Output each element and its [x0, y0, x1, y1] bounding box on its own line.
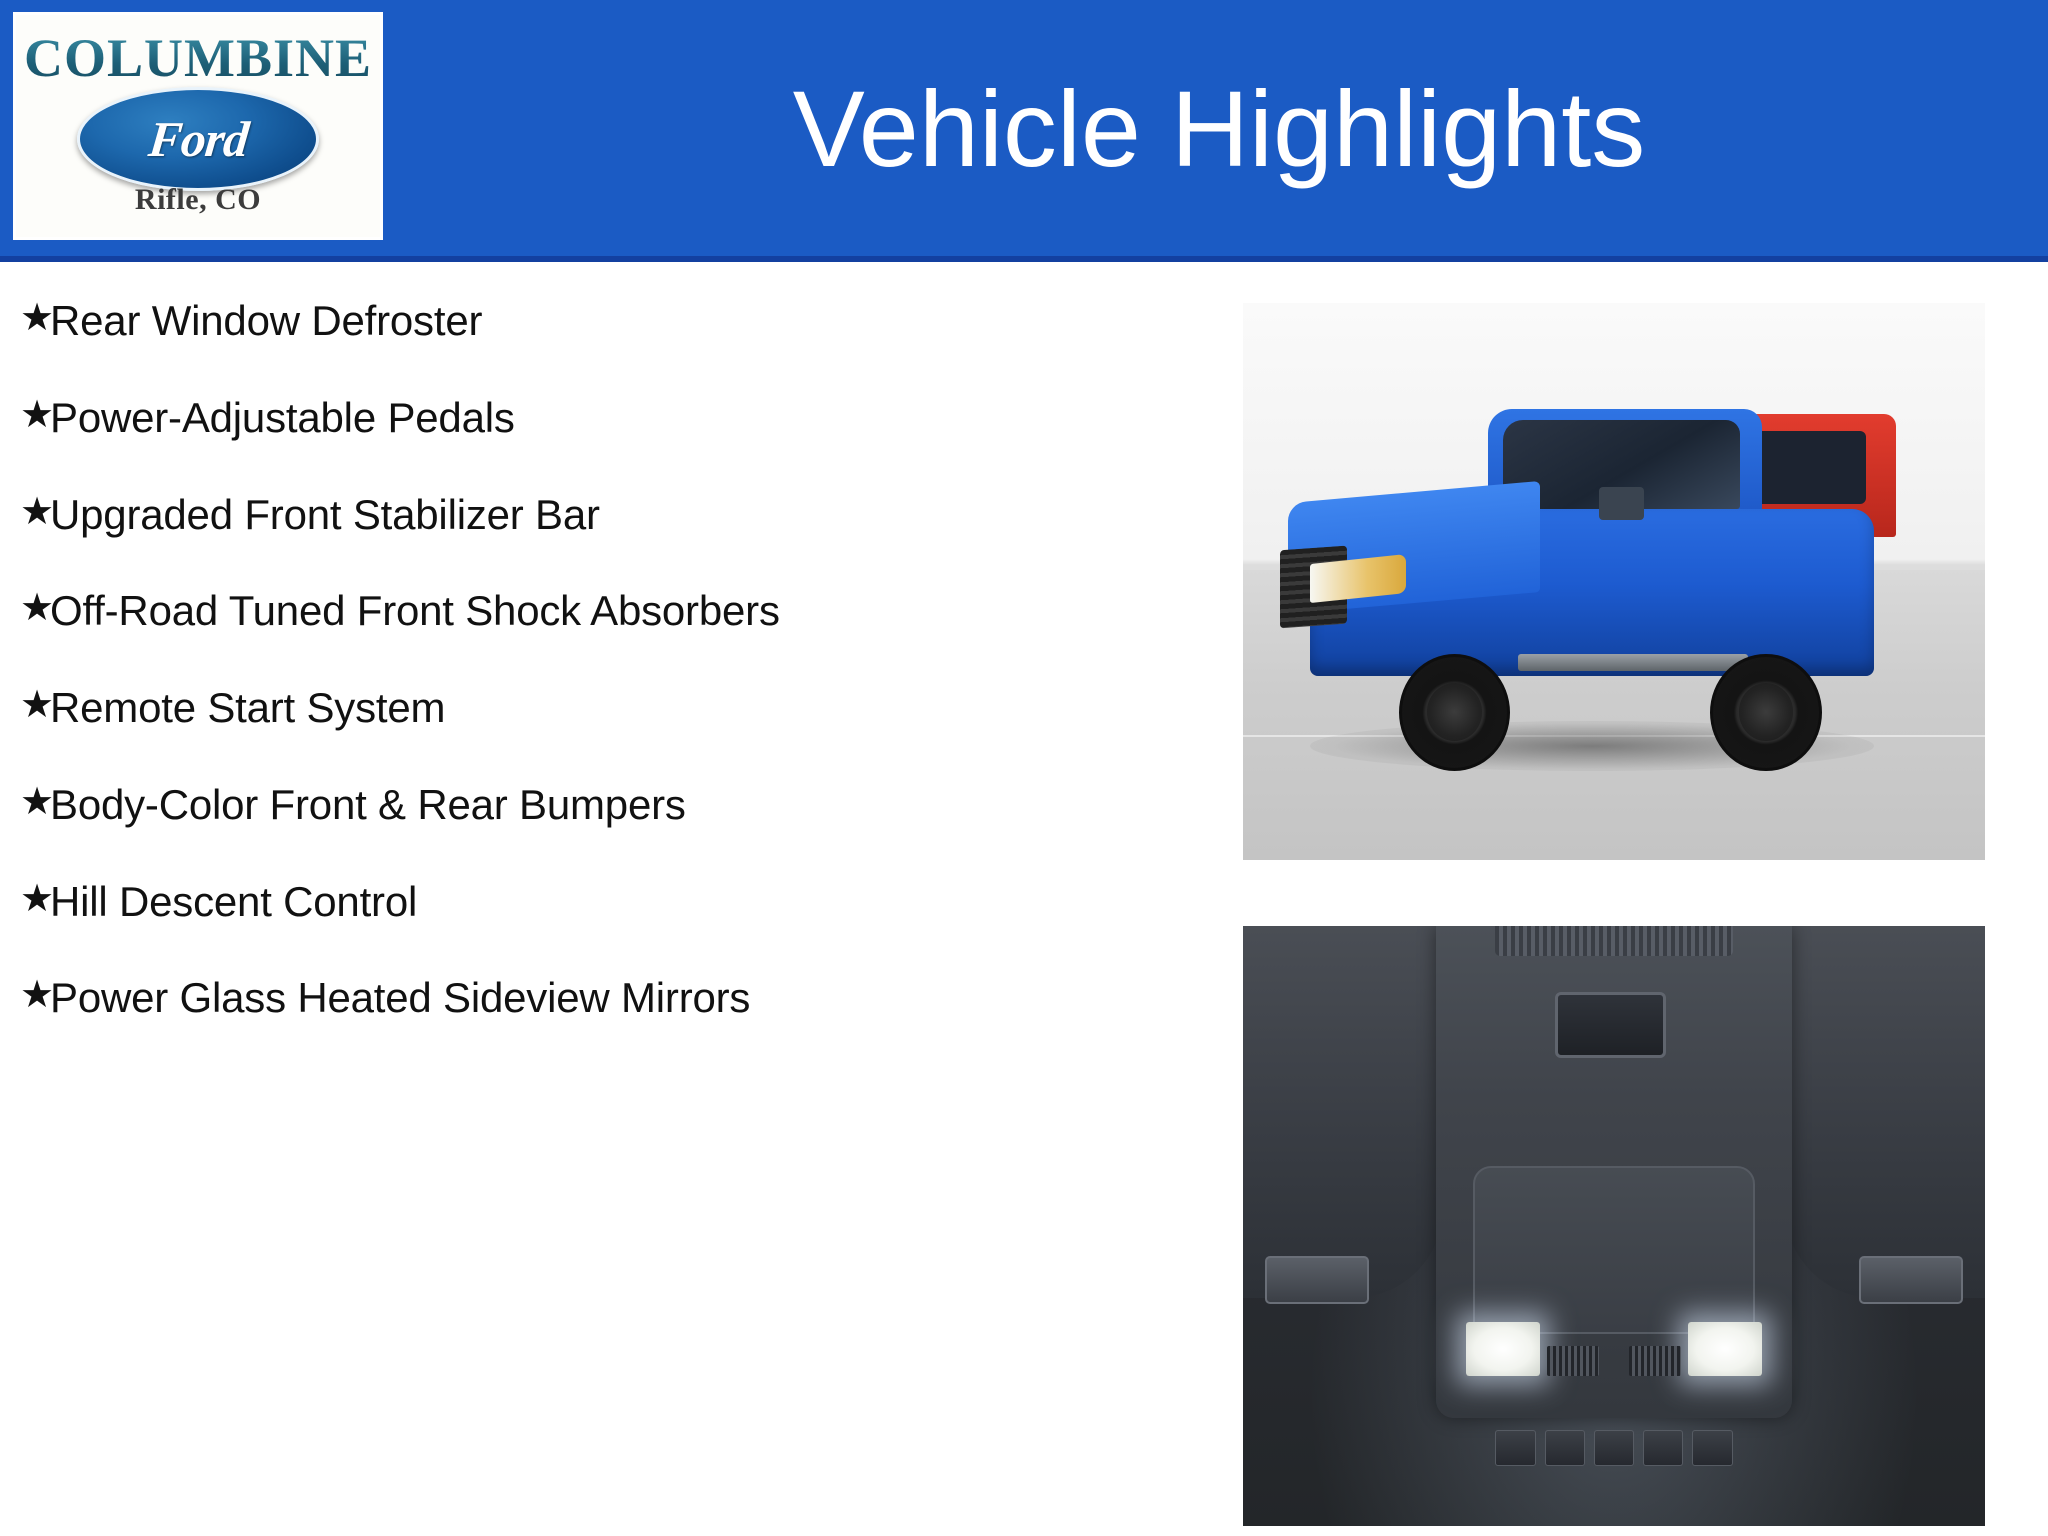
console-button	[1594, 1430, 1634, 1466]
sun-visor-left	[1243, 926, 1443, 1298]
visor-clip-right	[1859, 1256, 1963, 1304]
list-item: ★ Rear Window Defroster	[0, 294, 1230, 348]
list-item-label: Off-Road Tuned Front Shock Absorbers	[50, 584, 1230, 638]
console-button	[1545, 1430, 1585, 1466]
star-icon: ★	[0, 294, 50, 343]
list-item: ★ Upgraded Front Stabilizer Bar	[0, 488, 1230, 542]
list-item-label: Rear Window Defroster	[50, 294, 1230, 348]
console-vent-right	[1629, 1346, 1681, 1376]
star-icon: ★	[0, 488, 50, 537]
console-panel	[1473, 1166, 1755, 1334]
page-header: COLUMBINE Ford Rifle, CO Vehicle Highlig…	[0, 0, 2048, 262]
star-icon: ★	[0, 681, 50, 730]
page-title: Vehicle Highlights	[390, 0, 2048, 256]
list-item: ★ Hill Descent Control	[0, 875, 1230, 929]
list-item-label: Body-Color Front & Rear Bumpers	[50, 778, 1230, 832]
map-light-left	[1466, 1322, 1540, 1376]
console-button	[1643, 1430, 1683, 1466]
sunroof-switch	[1555, 992, 1666, 1058]
star-icon: ★	[0, 875, 50, 924]
list-item: ★ Off-Road Tuned Front Shock Absorbers	[0, 584, 1230, 638]
visor-clip-left	[1265, 1256, 1369, 1304]
list-item-label: Power-Adjustable Pedals	[50, 391, 1230, 445]
list-item-label: Power Glass Heated Sideview Mirrors	[50, 971, 1230, 1025]
side-mirror	[1599, 487, 1644, 520]
list-item-label: Hill Descent Control	[50, 875, 1230, 929]
front-wheel	[1399, 654, 1510, 771]
sunroof-trim	[1495, 926, 1732, 956]
vehicle-highlights-list: ★ Rear Window Defroster ★ Power-Adjustab…	[0, 268, 1230, 1068]
dealer-brand-name: COLUMBINE	[16, 31, 380, 85]
list-item-label: Remote Start System	[50, 681, 1230, 735]
list-item: ★ Remote Start System	[0, 681, 1230, 735]
rear-wheel	[1710, 654, 1821, 771]
camper-shell-window	[1748, 431, 1867, 503]
list-item: ★ Power Glass Heated Sideview Mirrors	[0, 971, 1230, 1025]
star-icon: ★	[0, 971, 50, 1020]
console-button-row	[1495, 1430, 1732, 1466]
list-item: ★ Power-Adjustable Pedals	[0, 391, 1230, 445]
console-button	[1692, 1430, 1732, 1466]
overhead-console-photo	[1243, 926, 1985, 1526]
running-board	[1518, 654, 1748, 671]
list-item: ★ Body-Color Front & Rear Bumpers	[0, 778, 1230, 832]
console-vent-left	[1547, 1346, 1599, 1376]
dealer-location: Rifle, CO	[16, 183, 380, 217]
star-icon: ★	[0, 778, 50, 827]
ford-wordmark: Ford	[146, 114, 250, 164]
list-item-label: Upgraded Front Stabilizer Bar	[50, 488, 1230, 542]
star-icon: ★	[0, 391, 50, 440]
sun-visor-right	[1785, 926, 1985, 1298]
truck-exterior-photo	[1243, 303, 1985, 860]
star-icon: ★	[0, 584, 50, 633]
ford-oval-icon: Ford	[77, 87, 319, 191]
dealer-logo: COLUMBINE Ford Rifle, CO	[13, 12, 383, 240]
map-light-right	[1688, 1322, 1762, 1376]
console-button	[1495, 1430, 1535, 1466]
